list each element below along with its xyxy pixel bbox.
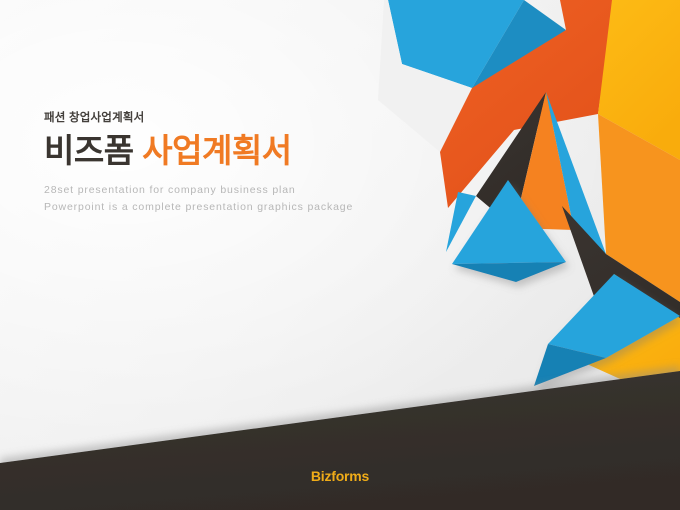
shape-blue-free-triangle-fold <box>452 262 566 282</box>
page-title: 비즈폼 사업계획서 <box>44 133 374 169</box>
footer-brand-logo: Bizforms <box>0 468 680 484</box>
title-block: 패션 창업사업계획서 비즈폼 사업계획서 28set presentation … <box>44 112 374 216</box>
presentation-slide: 패션 창업사업계획서 비즈폼 사업계획서 28set presentation … <box>0 0 680 510</box>
subtitle-line-2: Powerpoint is a complete presentation gr… <box>44 199 374 216</box>
eyebrow-text: 패션 창업사업계획서 <box>44 112 374 126</box>
title-accent: 사업계획서 <box>142 132 291 169</box>
shape-charcoal-footer-band <box>0 371 680 510</box>
geometric-artwork <box>0 0 680 510</box>
title-primary: 비즈폼 <box>44 132 134 169</box>
subtitle-line-1: 28set presentation for company business … <box>44 182 374 199</box>
